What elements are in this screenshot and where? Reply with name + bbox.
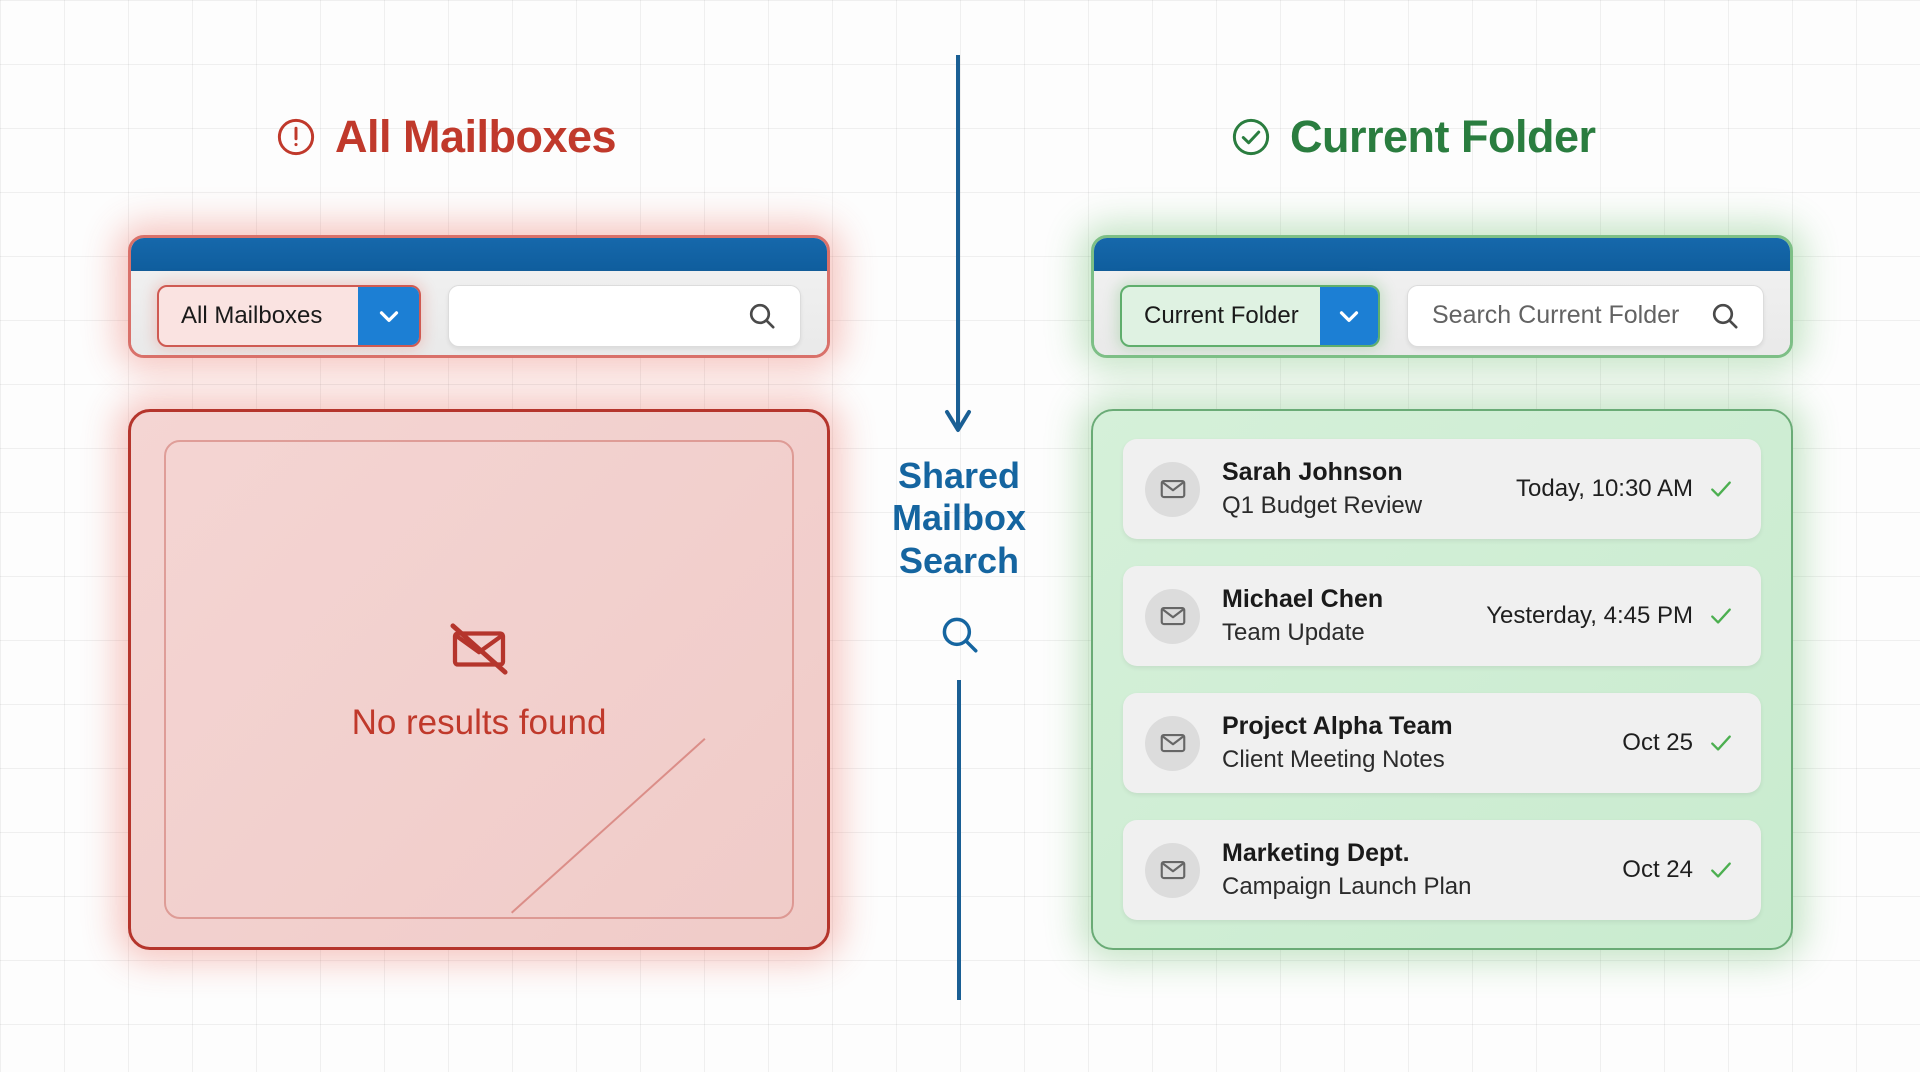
mail-item-subject: Q1 Budget Review xyxy=(1222,490,1494,522)
left-panel-header: All Mailboxes xyxy=(275,111,616,163)
chevron-down-icon[interactable] xyxy=(1320,287,1378,345)
check-icon xyxy=(1707,475,1735,503)
mail-item-meta: Yesterday, 4:45 PM xyxy=(1486,602,1735,630)
center-caption-line-2: Mailbox xyxy=(878,497,1040,539)
center-caption-line-3: Search xyxy=(878,540,1040,582)
mail-item-text: Michael Chen Team Update xyxy=(1222,583,1464,649)
mail-item-sender: Sarah Johnson xyxy=(1222,456,1494,490)
mail-item-text: Sarah Johnson Q1 Budget Review xyxy=(1222,456,1494,522)
right-search-input-placeholder: Search Current Folder xyxy=(1432,301,1699,330)
arrow-down-icon xyxy=(941,55,983,445)
check-icon xyxy=(1707,729,1735,757)
left-empty-state: No results found xyxy=(164,440,794,919)
search-icon xyxy=(938,613,982,657)
mail-list-item[interactable]: Project Alpha Team Client Meeting Notes … xyxy=(1123,693,1761,793)
search-icon xyxy=(1709,300,1741,332)
mail-item-date: Today, 10:30 AM xyxy=(1516,475,1693,503)
mail-item-text: Project Alpha Team Client Meeting Notes xyxy=(1222,710,1600,776)
right-window-titlebar xyxy=(1094,238,1790,271)
right-search-toolbar: Current Folder Search Current Folder xyxy=(1094,271,1790,358)
comparison-diagram: All Mailboxes Current Folder All Mailbox… xyxy=(0,0,1920,1072)
mail-list-item[interactable]: Michael Chen Team Update Yesterday, 4:45… xyxy=(1123,566,1761,666)
check-icon xyxy=(1707,856,1735,884)
mail-off-icon xyxy=(447,617,511,681)
chevron-down-icon[interactable] xyxy=(358,287,419,345)
mail-item-subject: Client Meeting Notes xyxy=(1222,744,1600,776)
mail-item-date: Oct 24 xyxy=(1622,856,1693,884)
mail-item-meta: Today, 10:30 AM xyxy=(1516,475,1735,503)
right-panel-header: Current Folder xyxy=(1230,111,1596,163)
center-caption-line-1: Shared xyxy=(878,455,1040,497)
scope-dropdown-value: All Mailboxes xyxy=(159,287,358,345)
left-window-titlebar xyxy=(131,238,827,271)
mail-item-sender: Michael Chen xyxy=(1222,583,1464,617)
left-search-window: All Mailboxes xyxy=(128,235,830,358)
left-results-panel: No results found xyxy=(128,409,830,950)
scope-dropdown-value: Current Folder xyxy=(1122,287,1320,345)
mail-list-item[interactable]: Sarah Johnson Q1 Budget Review Today, 10… xyxy=(1123,439,1761,539)
mail-item-sender: Marketing Dept. xyxy=(1222,837,1600,871)
scope-dropdown-all-mailboxes[interactable]: All Mailboxes xyxy=(157,285,421,347)
right-search-input[interactable]: Search Current Folder xyxy=(1407,285,1764,347)
left-search-toolbar: All Mailboxes xyxy=(131,271,827,358)
mail-item-meta: Oct 25 xyxy=(1622,729,1735,757)
scope-dropdown-current-folder[interactable]: Current Folder xyxy=(1120,285,1380,347)
envelope-icon xyxy=(1145,589,1200,644)
right-panel-header-label: Current Folder xyxy=(1290,111,1596,163)
envelope-icon xyxy=(1145,716,1200,771)
mail-item-text: Marketing Dept. Campaign Launch Plan xyxy=(1222,837,1600,903)
check-icon xyxy=(1707,602,1735,630)
center-divider-line xyxy=(957,680,961,1000)
mail-item-date: Oct 25 xyxy=(1622,729,1693,757)
left-empty-state-message: No results found xyxy=(352,703,607,743)
center-caption: Shared Mailbox Search xyxy=(878,455,1040,582)
envelope-icon xyxy=(1145,462,1200,517)
alert-circle-icon xyxy=(275,116,317,158)
right-search-window: Current Folder Search Current Folder xyxy=(1091,235,1793,358)
mail-item-sender: Project Alpha Team xyxy=(1222,710,1600,744)
mail-item-subject: Team Update xyxy=(1222,617,1464,649)
left-search-input[interactable] xyxy=(448,285,801,347)
search-icon xyxy=(746,300,778,332)
mail-item-subject: Campaign Launch Plan xyxy=(1222,871,1600,903)
mail-item-date: Yesterday, 4:45 PM xyxy=(1486,602,1693,630)
left-panel-header-label: All Mailboxes xyxy=(335,111,616,163)
right-results-list: Sarah Johnson Q1 Budget Review Today, 10… xyxy=(1091,409,1793,950)
check-circle-icon xyxy=(1230,116,1272,158)
mail-item-meta: Oct 24 xyxy=(1622,856,1735,884)
envelope-icon xyxy=(1145,843,1200,898)
mail-list-item[interactable]: Marketing Dept. Campaign Launch Plan Oct… xyxy=(1123,820,1761,920)
